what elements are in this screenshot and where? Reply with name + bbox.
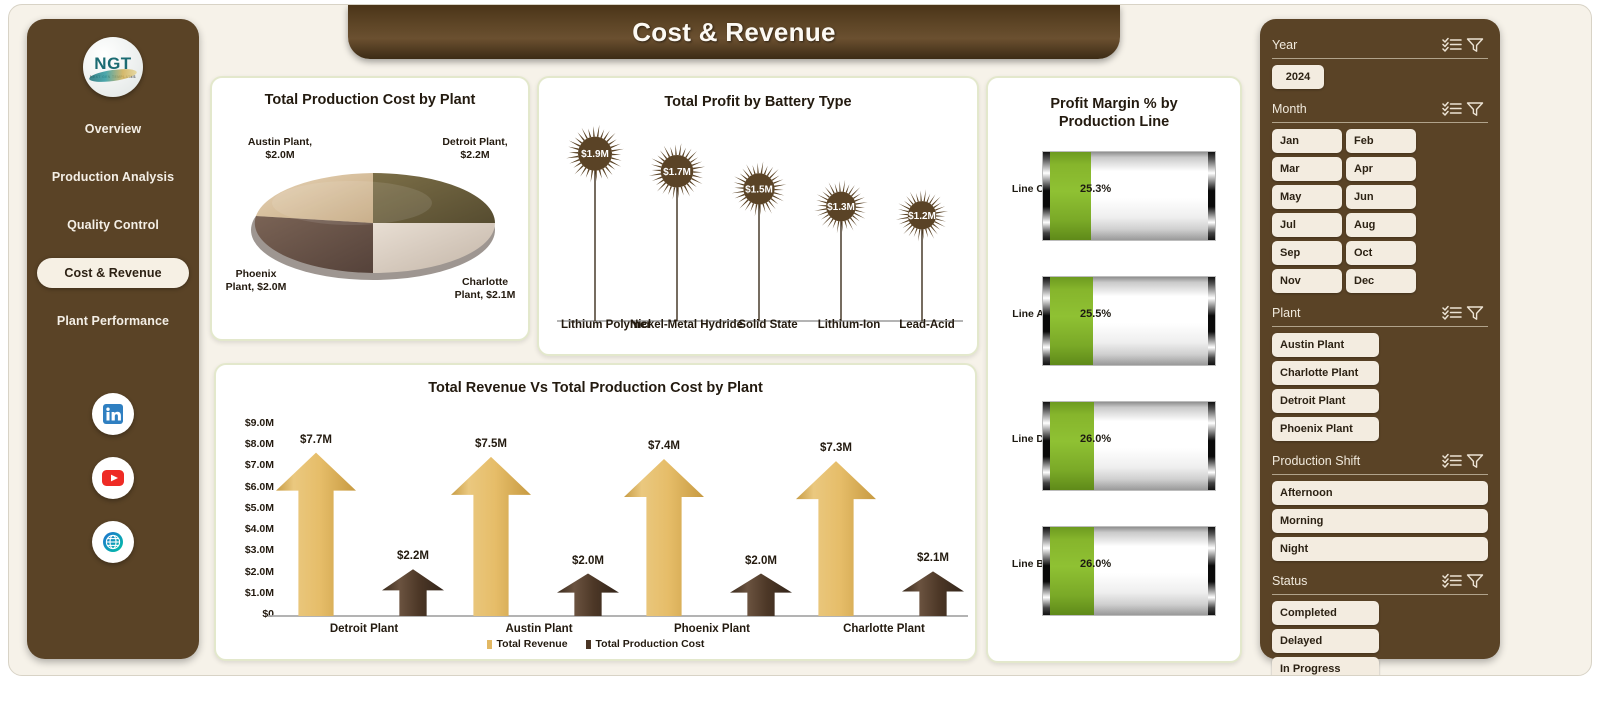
slicer-option[interactable]: Apr bbox=[1346, 157, 1416, 181]
sidebar-item-production-analysis[interactable]: Production Analysis bbox=[37, 162, 189, 192]
pie-label-charlotte: Charlotte Plant, $2.1M bbox=[447, 276, 523, 303]
pie-label-phoenix: Phoenix Plant, $2.0M bbox=[220, 268, 292, 295]
slicer-option[interactable]: Sep bbox=[1272, 241, 1342, 265]
slicer-option[interactable]: Delayed bbox=[1272, 629, 1379, 653]
gauge-track bbox=[1042, 401, 1216, 491]
multi-select-icon[interactable] bbox=[1442, 305, 1464, 321]
sidebar-item-cost-and-revenue[interactable]: Cost & Revenue bbox=[37, 258, 189, 288]
data-label-revenue: $7.4M bbox=[619, 440, 709, 452]
slicer-divider bbox=[1272, 326, 1488, 327]
gauge-label: Line D bbox=[996, 433, 1044, 445]
card-profit-margin-by-line: Profit Margin % by Production Line Line … bbox=[986, 76, 1242, 663]
slicer-option[interactable]: 2024 bbox=[1272, 65, 1324, 89]
lollipop-chart: $1.9M$1.7M$1.5M$1.3M$1.2M bbox=[539, 96, 981, 351]
slicer-title: Status bbox=[1272, 574, 1440, 588]
clear-filter-icon[interactable] bbox=[1466, 573, 1488, 589]
slicer-option[interactable]: Completed bbox=[1272, 601, 1379, 625]
slicer-option[interactable]: Mar bbox=[1272, 157, 1342, 181]
slicer-status: Status CompletedDelayedIn ProgressOn Hol… bbox=[1272, 571, 1488, 676]
legend-label: Total Production Cost bbox=[596, 638, 705, 650]
data-label-cost: $2.2M bbox=[368, 550, 458, 562]
gauge-fill bbox=[1050, 277, 1093, 365]
youtube-icon[interactable] bbox=[92, 457, 134, 499]
x-axis-label: Austin Plant bbox=[469, 623, 609, 635]
gauge-value: 26.0% bbox=[1080, 558, 1111, 570]
clear-filter-icon[interactable] bbox=[1466, 101, 1488, 117]
sidebar-item-plant-performance[interactable]: Plant Performance bbox=[37, 306, 189, 336]
slicer-divider bbox=[1272, 474, 1488, 475]
clear-filter-icon[interactable] bbox=[1466, 453, 1488, 469]
slicer-option[interactable]: Feb bbox=[1346, 129, 1416, 153]
legend-label: Total Revenue bbox=[497, 638, 568, 650]
linkedin-icon[interactable] bbox=[92, 393, 134, 435]
gauge-fill bbox=[1050, 152, 1091, 240]
data-label-revenue: $7.3M bbox=[791, 442, 881, 454]
svg-text:$1.2M: $1.2M bbox=[908, 211, 936, 222]
slicer-production-shift: Production Shift AfternoonMorningNight bbox=[1272, 451, 1488, 561]
svg-text:$1.3M: $1.3M bbox=[827, 202, 855, 213]
slicer-option[interactable]: Charlotte Plant bbox=[1272, 361, 1379, 385]
card-title: Profit Margin % by Production Line bbox=[988, 95, 1240, 131]
slicer-option[interactable]: Night bbox=[1272, 537, 1488, 561]
slicer-options: JanFebMarAprMayJunJulAugSepOctNovDec bbox=[1272, 129, 1488, 293]
slicer-options: 2024 bbox=[1272, 65, 1488, 89]
slicer-option[interactable]: Dec bbox=[1346, 269, 1416, 293]
slicer-header: Plant bbox=[1272, 303, 1488, 323]
sidebar-item-overview[interactable]: Overview bbox=[37, 114, 189, 144]
sidebar-item-label: Quality Control bbox=[67, 218, 159, 232]
gauge-cap-left bbox=[1043, 402, 1050, 490]
svg-text:$1.7M: $1.7M bbox=[663, 167, 691, 178]
slicer-title: Month bbox=[1272, 102, 1440, 116]
sidebar-item-label: Plant Performance bbox=[57, 314, 169, 328]
data-label-cost: $2.0M bbox=[543, 555, 633, 567]
x-axis-label: Phoenix Plant bbox=[642, 623, 782, 635]
gauge-value: 25.3% bbox=[1080, 183, 1111, 195]
gauge-track bbox=[1042, 151, 1216, 241]
data-label-revenue: $7.5M bbox=[446, 438, 536, 450]
sidebar-item-label: Production Analysis bbox=[52, 170, 174, 184]
slicer-option[interactable]: Jul bbox=[1272, 213, 1342, 237]
dashboard-root: NGT NEXT GEN TEMPLATES Overview Producti… bbox=[0, 0, 1600, 707]
card-title: Total Revenue Vs Total Production Cost b… bbox=[216, 379, 975, 397]
page-title: Cost & Revenue bbox=[632, 17, 836, 48]
sidebar-item-label: Cost & Revenue bbox=[64, 266, 161, 280]
gauge-fill bbox=[1050, 402, 1094, 490]
gauge-cap-left bbox=[1043, 527, 1050, 615]
gauge-cap-right bbox=[1208, 402, 1215, 490]
slicer-title: Year bbox=[1272, 38, 1440, 52]
slicer-option[interactable]: May bbox=[1272, 185, 1342, 209]
slicer-divider bbox=[1272, 122, 1488, 123]
sidebar-item-quality-control[interactable]: Quality Control bbox=[37, 210, 189, 240]
slicer-options: AfternoonMorningNight bbox=[1272, 481, 1488, 561]
chart-legend: Total Revenue Total Production Cost bbox=[216, 638, 975, 650]
slicer-year: Year 2024 bbox=[1272, 35, 1488, 89]
pie-label-austin: Austin Plant, $2.0M bbox=[244, 136, 316, 163]
data-label-revenue: $7.7M bbox=[271, 434, 361, 446]
card-revenue-vs-cost: Total Revenue Vs Total Production Cost b… bbox=[214, 363, 977, 661]
sidebar-item-label: Overview bbox=[85, 122, 141, 136]
slicer-divider bbox=[1272, 58, 1488, 59]
card-production-cost-by-plant: Total Production Cost by Plant bbox=[210, 76, 530, 341]
filter-panel: Year 2024Month bbox=[1260, 19, 1500, 659]
slicer-plant: Plant Austin PlantCharlotte PlantDetroit… bbox=[1272, 303, 1488, 441]
slicer-option[interactable]: Austin Plant bbox=[1272, 333, 1379, 357]
x-axis-label: Charlotte Plant bbox=[814, 623, 954, 635]
gauge-track bbox=[1042, 526, 1216, 616]
slicer-title: Production Shift bbox=[1272, 454, 1440, 468]
svg-text:$1.9M: $1.9M bbox=[581, 149, 609, 160]
clear-filter-icon[interactable] bbox=[1466, 37, 1488, 53]
slicer-option[interactable]: Jan bbox=[1272, 129, 1342, 153]
gauge-label: Line B bbox=[996, 558, 1044, 570]
gauge-track bbox=[1042, 276, 1216, 366]
data-label-cost: $2.0M bbox=[716, 555, 806, 567]
page-header-banner: Cost & Revenue bbox=[348, 5, 1120, 59]
slicer-option[interactable]: Detroit Plant bbox=[1272, 389, 1379, 413]
gauge-value: 26.0% bbox=[1080, 433, 1111, 445]
dashboard-canvas: NGT NEXT GEN TEMPLATES Overview Producti… bbox=[8, 4, 1592, 676]
slicer-header: Status bbox=[1272, 571, 1488, 591]
gauge-row-line-d: Line D 26.0% bbox=[988, 395, 1240, 495]
legend-swatch bbox=[586, 640, 591, 649]
multi-select-icon[interactable] bbox=[1442, 37, 1464, 53]
svg-text:$1.5M: $1.5M bbox=[745, 184, 773, 195]
gauge-row-line-c: Line C 25.3% bbox=[988, 145, 1240, 245]
slicer-divider bbox=[1272, 594, 1488, 595]
card-profit-by-battery-type: Total Profit by Battery Type $1.9M$1.7M$… bbox=[537, 76, 979, 356]
gauge-cap-right bbox=[1208, 527, 1215, 615]
slicer-option[interactable]: Jun bbox=[1346, 185, 1416, 209]
legend-swatch bbox=[487, 640, 492, 649]
slicer-options: CompletedDelayedIn ProgressOn Hold bbox=[1272, 601, 1488, 676]
gauge-cap-left bbox=[1043, 152, 1050, 240]
gauge-label: Line A bbox=[996, 308, 1044, 320]
slicer-option[interactable]: Nov bbox=[1272, 269, 1342, 293]
clear-filter-icon[interactable] bbox=[1466, 305, 1488, 321]
lollipop-cat-lead-acid: Lead-Acid bbox=[879, 318, 975, 333]
gauge-cap-right bbox=[1208, 152, 1215, 240]
slicer-option[interactable]: Afternoon bbox=[1272, 481, 1488, 505]
slicer-header: Year bbox=[1272, 35, 1488, 55]
multi-select-icon[interactable] bbox=[1442, 101, 1464, 117]
slicer-option[interactable]: Oct bbox=[1346, 241, 1416, 265]
legend-item-total-revenue: Total Revenue bbox=[487, 638, 568, 650]
slicer-header: Month bbox=[1272, 99, 1488, 119]
legend-item-total-production-cost: Total Production Cost bbox=[586, 638, 705, 650]
x-axis-label: Detroit Plant bbox=[294, 623, 434, 635]
multi-select-icon[interactable] bbox=[1442, 453, 1464, 469]
multi-select-icon[interactable] bbox=[1442, 573, 1464, 589]
slicer-month: Month JanFebMarAprMayJunJulAugSepOctNovD… bbox=[1272, 99, 1488, 293]
gauge-row-line-a: Line A 25.5% bbox=[988, 270, 1240, 370]
slicer-option[interactable]: Morning bbox=[1272, 509, 1488, 533]
sidebar: NGT NEXT GEN TEMPLATES Overview Producti… bbox=[27, 19, 199, 659]
gauge-label: Line C bbox=[996, 183, 1044, 195]
slicer-title: Plant bbox=[1272, 306, 1440, 320]
gauge-fill bbox=[1050, 527, 1094, 615]
pie-label-detroit: Detroit Plant, $2.2M bbox=[437, 136, 513, 163]
website-icon[interactable] bbox=[92, 521, 134, 563]
app-logo: NGT NEXT GEN TEMPLATES bbox=[83, 37, 143, 97]
slicer-option[interactable]: Phoenix Plant bbox=[1272, 417, 1379, 441]
slicer-options: Austin PlantCharlotte PlantDetroit Plant… bbox=[1272, 333, 1488, 441]
data-label-cost: $2.1M bbox=[888, 552, 978, 564]
gauge-value: 25.5% bbox=[1080, 308, 1111, 320]
slicer-option[interactable]: Aug bbox=[1346, 213, 1416, 237]
gauge-cap-right bbox=[1208, 277, 1215, 365]
gauge-row-line-b: Line B 26.0% bbox=[988, 520, 1240, 620]
slicer-option[interactable]: In Progress bbox=[1272, 657, 1379, 676]
slicer-header: Production Shift bbox=[1272, 451, 1488, 471]
gauge-cap-left bbox=[1043, 277, 1050, 365]
